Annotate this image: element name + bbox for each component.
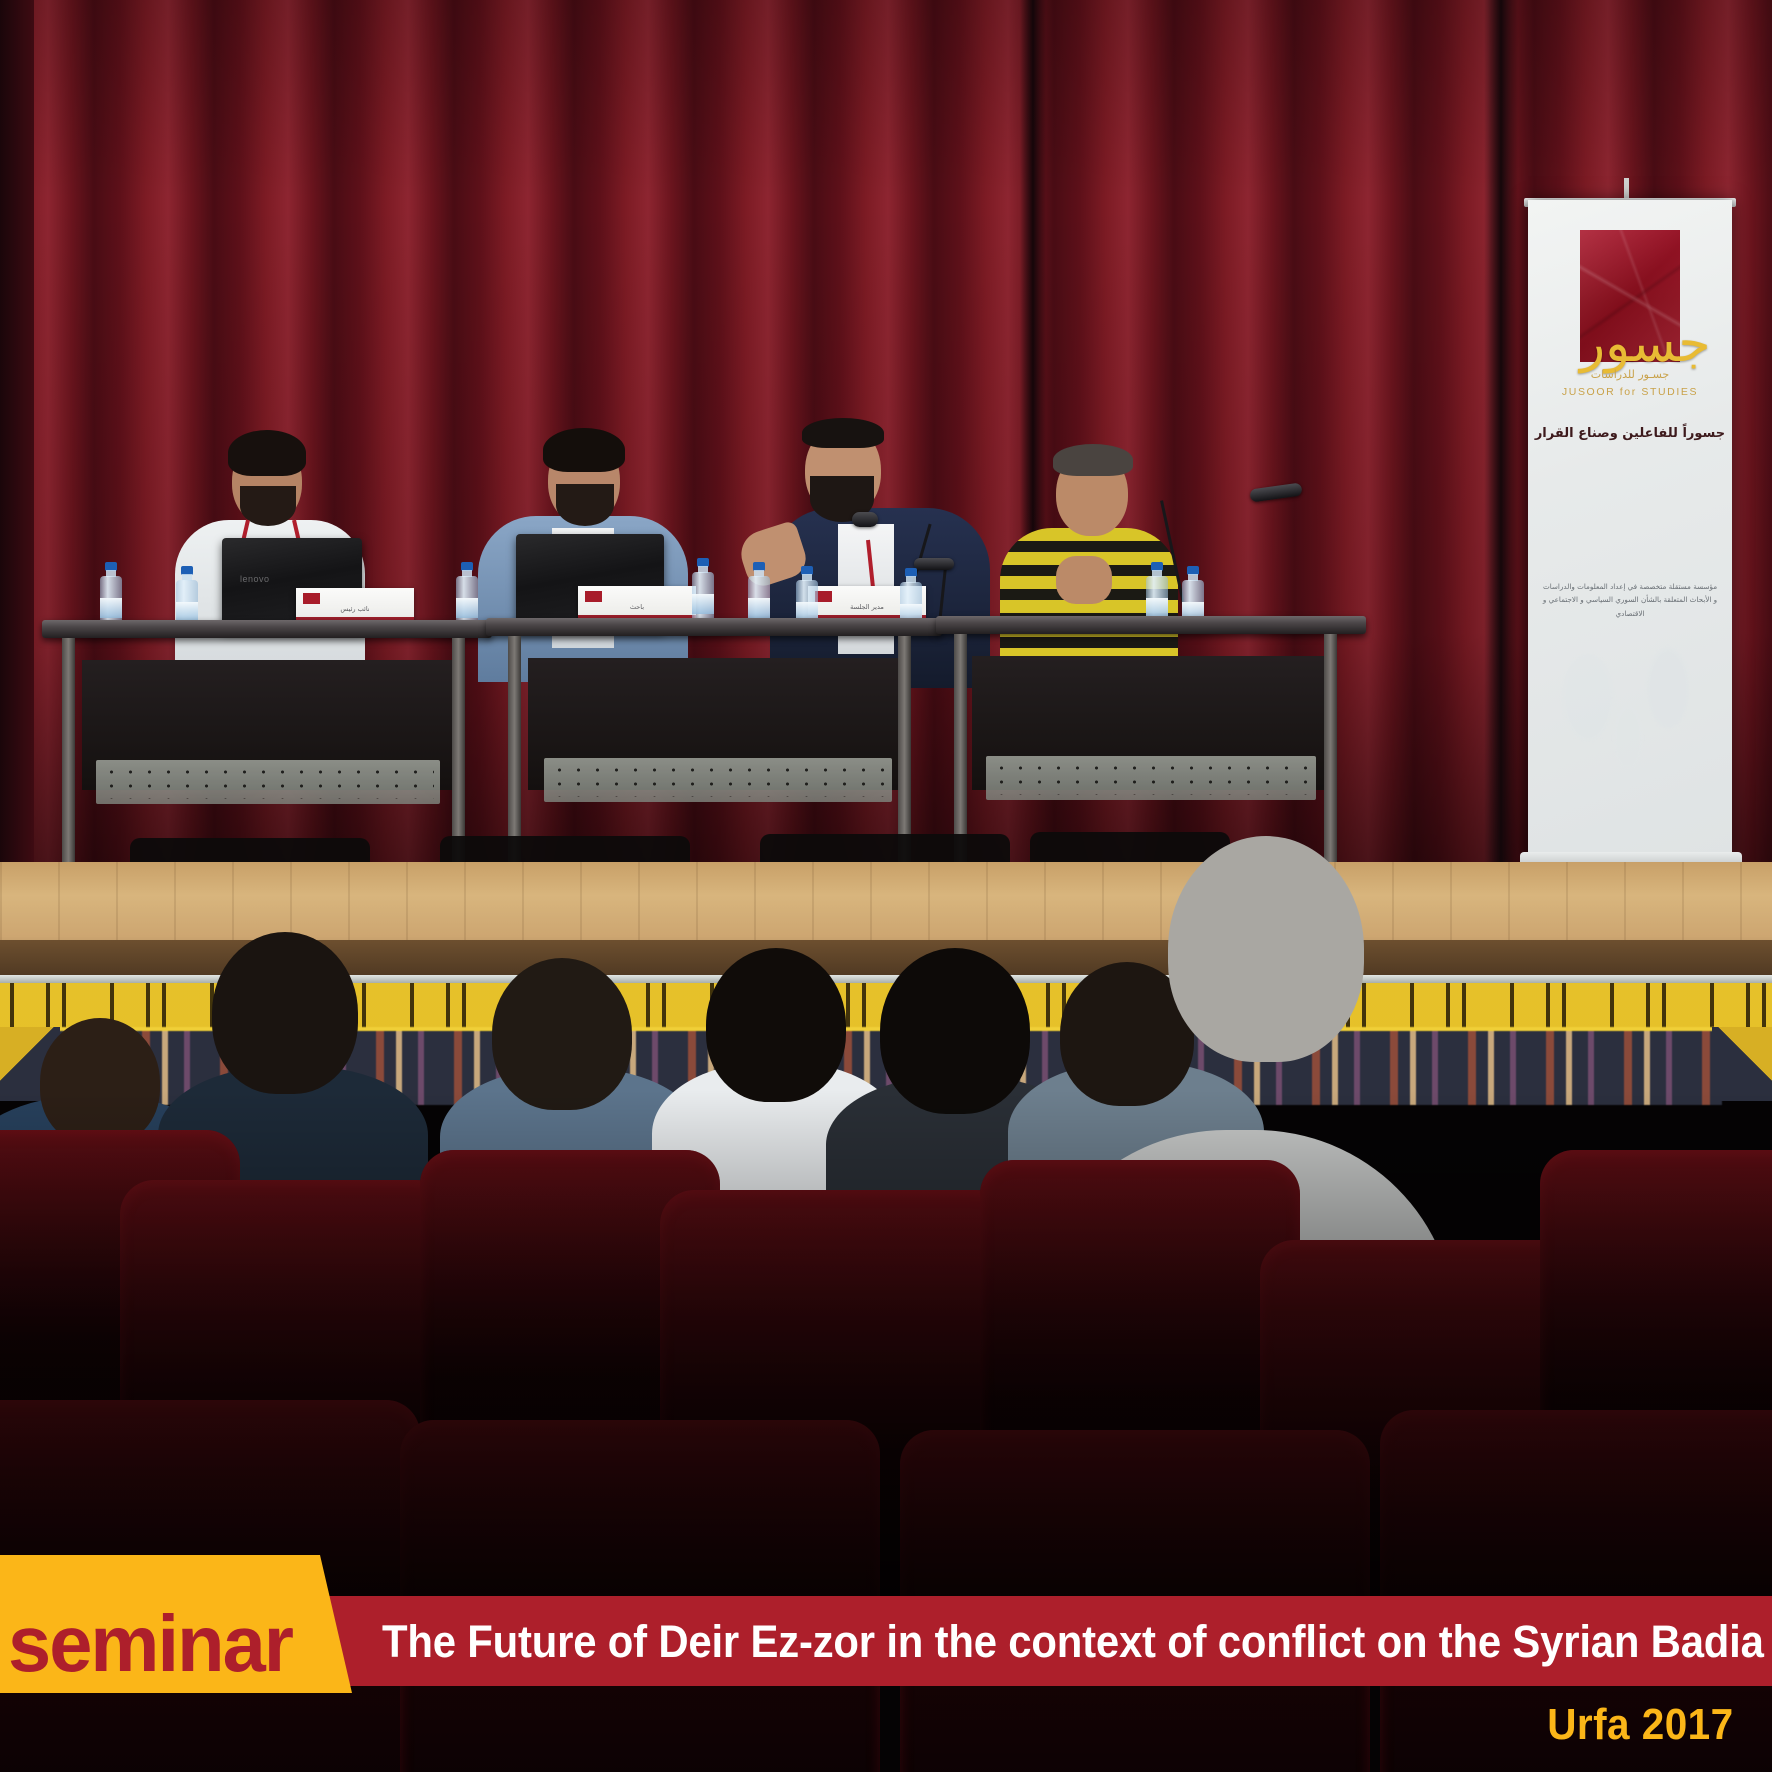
jusoor-rollup-banner: جسور جسـور للدراسات JUSOOR for STUDIES ج… [1528,200,1732,860]
panelist-4-hair [1053,444,1133,476]
bottle-label [176,602,198,622]
table-perforated-panel [986,756,1316,800]
audience-head [492,958,632,1110]
table-top-surface [42,620,492,638]
jusoor-name-english: JUSOOR for STUDIES [1528,386,1732,398]
panelist-2-beard [556,484,614,526]
lenovo-brand-mark: lenovo [240,574,270,584]
rollup-watermark-graphic [1528,538,1732,768]
nameplate-2-text: باحث [578,603,696,611]
panelist-2-hair [543,428,625,472]
panelist-4-hand-on-chin [1056,556,1112,604]
seminar-tag-label: seminar [8,1598,328,1690]
table-leg [1324,634,1337,870]
jusoor-name-arabic: جسـور للدراسات [1528,368,1732,381]
jusoor-logo-arabic-script: جسور [1580,318,1680,370]
seminar-title: The Future of Deir Ez-zor in the context… [382,1607,1665,1677]
jusoor-tagline-arabic: جسوراً للفاعلين وصناع القرار [1528,426,1732,441]
photo-canvas: جسور جسـور للدراسات JUSOOR for STUDIES ج… [0,0,1772,1772]
table-top-surface [936,616,1366,634]
jusoor-logo-mark: جسور [1580,230,1680,362]
table-perforated-panel [544,758,892,802]
place-year-label: Urfa 2017 [1548,1700,1734,1750]
panelist-3-hair [802,418,884,448]
audience-head [40,1018,160,1146]
bottle-label [1146,598,1168,618]
nameplate-logo-icon [585,591,602,602]
mic-capsule [852,512,878,527]
table-leg [452,638,465,868]
audience-head [706,948,846,1102]
audience-head [880,948,1030,1114]
bottle-label [456,598,478,618]
nameplate-1-text: نائب رئيس [296,605,414,613]
table-top-surface [486,618,942,636]
bottle-label [100,598,122,618]
fascia-corner-right [1712,1027,1772,1101]
nameplate-logo-icon [303,593,320,604]
table-leg [62,638,75,868]
table-leg [508,636,521,870]
panelist-1-hair [228,430,306,476]
left-wall-shadow [0,0,34,905]
bottle-label [692,594,714,614]
audience-head [212,932,358,1094]
audience-head [1168,836,1364,1062]
bottle-label [748,598,770,618]
mic-capsule [914,558,954,570]
table-perforated-panel [96,760,440,804]
jusoor-description-arabic: مؤسسة مستقلة متخصصة في إعداد المعلومات و… [1542,580,1718,620]
curtain-seam-right [1484,0,1518,905]
